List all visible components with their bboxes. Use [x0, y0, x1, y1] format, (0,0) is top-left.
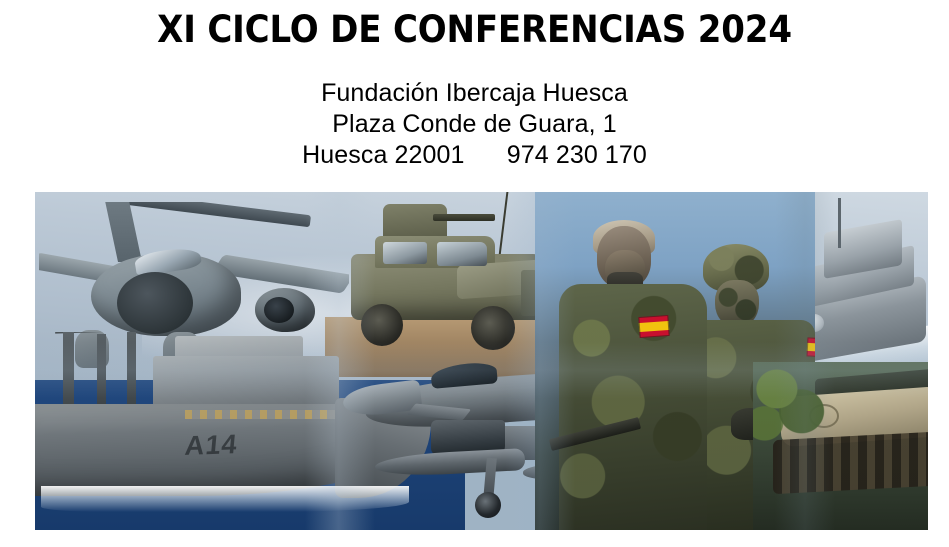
ship-crane-c — [127, 332, 136, 412]
spanish-flag-patch-b — [807, 337, 815, 357]
aircraft-engine — [255, 288, 315, 332]
vehicle-windshield — [437, 242, 487, 266]
aircraft-nose-cone — [117, 272, 193, 334]
frigate-mast — [838, 198, 841, 248]
venue-organization: Fundación Ibercaja Huesca — [0, 78, 949, 109]
jet-landing-wheel — [475, 492, 501, 518]
spanish-flag-patch-a — [638, 315, 669, 338]
aircraft-tail-fin — [104, 202, 142, 262]
conference-poster: XI CICLO DE CONFERENCIAS 2024 Fundación … — [0, 0, 949, 547]
ifv-foliage — [753, 362, 835, 444]
ship-deck-equipment — [185, 410, 335, 419]
venue-city-phone: Huesca 22001 974 230 170 — [0, 140, 949, 171]
tracked-ifv-photo — [753, 362, 928, 530]
ship-crane-a — [63, 332, 74, 414]
venue-street: Plaza Conde de Guara, 1 — [0, 109, 949, 140]
page-title: XI CICLO DE CONFERENCIAS 2024 — [38, 8, 911, 52]
vehicle-machine-gun — [433, 214, 495, 221]
venue-address-block: Fundación Ibercaja Huesca Plaza Conde de… — [0, 78, 949, 171]
ship-crane-b — [97, 334, 106, 414]
military-photo-collage: A14 — [35, 192, 928, 530]
ship-hull-number: A14 — [184, 429, 239, 462]
vehicle-side-window — [383, 242, 427, 264]
soldier-a-uniform — [559, 284, 707, 530]
jet-fuel-tank — [375, 448, 526, 478]
aircraft-horizontal-stabilizer — [125, 202, 311, 227]
